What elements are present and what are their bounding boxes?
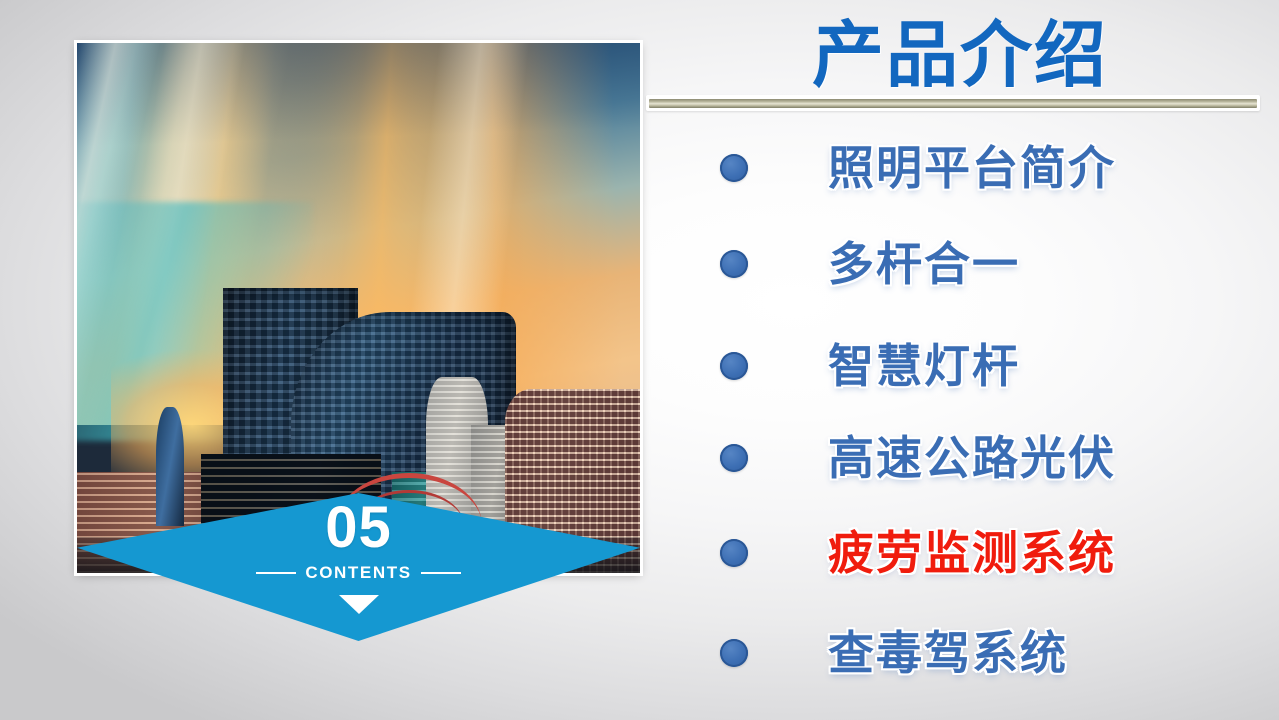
list-item[interactable]: 智慧灯杆 [660,328,1272,404]
title-divider-bar [649,99,1257,108]
slim-tower [156,407,184,526]
bullet-icon [720,444,748,472]
list-item-label: 查毒驾系统 [828,630,1068,676]
list-item[interactable]: 疲劳监测系统 [660,515,1272,591]
title-divider [646,95,1260,111]
bullet-icon [720,154,748,182]
presentation-slide: 05 CONTENTS 产品介绍 照明平台简介 多杆合一 智慧灯杆 高速公路光伏 [0,0,1279,720]
list-item[interactable]: 查毒驾系统 [660,615,1272,691]
agenda-list: 照明平台简介 多杆合一 智慧灯杆 高速公路光伏 疲劳监测系统 查毒驾系统 [660,120,1272,700]
list-item-label: 疲劳监测系统 [828,530,1116,576]
page-title: 产品介绍 [660,2,1260,94]
list-item-label: 智慧灯杆 [828,343,1020,389]
bullet-icon [720,639,748,667]
list-item-label: 高速公路光伏 [828,435,1116,481]
list-item-label: 照明平台简介 [828,145,1116,191]
bullet-icon [720,250,748,278]
bullet-icon [720,539,748,567]
list-item[interactable]: 高速公路光伏 [660,420,1272,496]
list-item[interactable]: 照明平台简介 [660,130,1272,206]
bullet-icon [720,352,748,380]
list-item[interactable]: 多杆合一 [660,226,1272,302]
list-item-label: 多杆合一 [828,241,1020,287]
